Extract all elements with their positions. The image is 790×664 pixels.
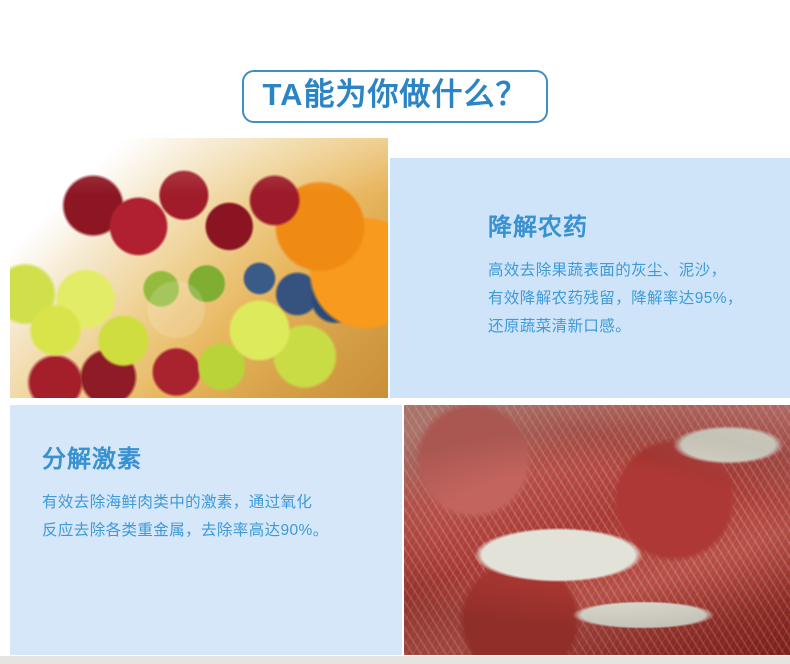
- page-title-banner: TA能为你做什么？: [0, 70, 790, 123]
- raw-steak-image: [404, 405, 790, 655]
- feature-heading-pesticide: 降解农药: [488, 213, 790, 243]
- feature-heading-hormone: 分解激素: [42, 445, 402, 475]
- raw-steak-artwork: [404, 405, 790, 655]
- fruit-platter-image: [10, 138, 388, 398]
- page-title: TA能为你做什么？: [242, 70, 547, 123]
- feature-body-pesticide: 高效去除果蔬表面的灰尘、泥沙， 有效降解农药残留，降解率达95%， 还原蔬菜清新…: [488, 257, 790, 341]
- footer-divider: [0, 656, 790, 664]
- feature-text-block-hormone: 分解激素 有效去除海鲜肉类中的激素，通过氧化 反应去除各类重金属，去除率高达90…: [10, 405, 402, 545]
- feature-panel-pesticide: 降解农药 高效去除果蔬表面的灰尘、泥沙， 有效降解农药残留，降解率达95%， 还…: [390, 158, 790, 398]
- feature-row-pesticide: 降解农药 高效去除果蔬表面的灰尘、泥沙， 有效降解农药残留，降解率达95%， 还…: [0, 138, 790, 400]
- feature-row-hormone: 分解激素 有效去除海鲜肉类中的激素，通过氧化 反应去除各类重金属，去除率高达90…: [0, 405, 790, 657]
- product-feature-page: TA能为你做什么？ 降解农药 高效去除果蔬表面的灰尘、泥沙， 有效降解农药残留，…: [0, 0, 790, 664]
- feature-panel-hormone: 分解激素 有效去除海鲜肉类中的激素，通过氧化 反应去除各类重金属，去除率高达90…: [10, 405, 402, 655]
- fruit-platter-artwork: [10, 138, 388, 398]
- feature-body-hormone: 有效去除海鲜肉类中的激素，通过氧化 反应去除各类重金属，去除率高达90%。: [42, 489, 402, 545]
- feature-text-block-pesticide: 降解农药 高效去除果蔬表面的灰尘、泥沙， 有效降解农药残留，降解率达95%， 还…: [390, 158, 790, 341]
